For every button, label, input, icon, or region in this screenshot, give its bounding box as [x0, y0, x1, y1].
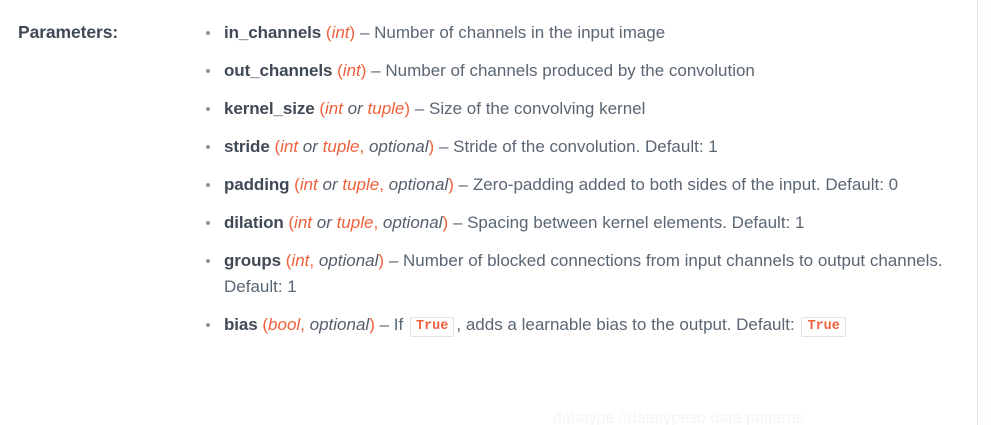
close-paren: ) [361, 61, 367, 80]
param-description: Number of channels produced by the convo… [385, 61, 755, 80]
separator-dash: – [415, 99, 424, 118]
param-type-alt: tuple [337, 213, 374, 232]
param-type: int [343, 61, 361, 80]
param-name: padding [224, 175, 289, 194]
param-type: int [300, 175, 318, 194]
param-type-group: (int or tuple, optional) [289, 175, 454, 194]
param-type-group: (int or tuple) [315, 99, 410, 118]
separator-dash: – [380, 315, 389, 334]
param-optional-flag: optional [383, 213, 443, 232]
separator-dash: – [371, 61, 380, 80]
param-type-alt: tuple [323, 137, 360, 156]
param-description: Number of channels in the input image [374, 23, 665, 42]
type-comma: , [300, 315, 309, 334]
list-item: out_channels (int) – Number of channels … [198, 58, 977, 84]
type-conjunction: or [298, 137, 323, 156]
close-paren: ) [369, 315, 375, 334]
param-type: bool [268, 315, 300, 334]
separator-dash: – [459, 175, 468, 194]
param-name: groups [224, 251, 281, 270]
param-description: Spacing between kernel elements. Default… [467, 213, 804, 232]
list-item: dilation (int or tuple, optional) – Spac… [198, 210, 977, 236]
scrollbar-track[interactable] [985, 0, 991, 425]
list-item: stride (int or tuple, optional) – Stride… [198, 134, 977, 160]
param-name: in_channels [224, 23, 321, 42]
parameters-label: Parameters: [0, 20, 198, 352]
param-type-group: (int) [321, 23, 355, 42]
param-name: bias [224, 315, 258, 334]
param-type-alt: tuple [342, 175, 379, 194]
param-type: int [332, 23, 350, 42]
list-item: bias (bool, optional) – If True, adds a … [198, 312, 977, 340]
close-paren: ) [429, 137, 435, 156]
close-paren: ) [442, 213, 448, 232]
close-paren: ) [404, 99, 410, 118]
close-paren: ) [350, 23, 356, 42]
param-optional-flag: optional [319, 251, 379, 270]
param-optional-flag: optional [389, 175, 449, 194]
param-optional-flag: optional [310, 315, 370, 334]
param-type: int [325, 99, 343, 118]
parameter-list: in_channels (int) – Number of channels i… [198, 20, 977, 339]
param-type-group: (int or tuple, optional) [270, 137, 435, 156]
param-name: kernel_size [224, 99, 315, 118]
list-item: groups (int, optional) – Number of block… [198, 248, 977, 299]
param-description: Stride of the convolution. Default: 1 [453, 137, 718, 156]
type-conjunction: or [343, 99, 368, 118]
literal-true-1: True [410, 317, 454, 337]
close-paren: ) [448, 175, 454, 194]
separator-dash: – [389, 251, 398, 270]
list-item: padding (int or tuple, optional) – Zero-… [198, 172, 977, 198]
separator-dash: – [453, 213, 462, 232]
param-description: Zero-padding added to both sides of the … [473, 175, 898, 194]
parameters-body: in_channels (int) – Number of channels i… [198, 20, 977, 352]
type-conjunction: or [312, 213, 337, 232]
param-optional-flag: optional [369, 137, 429, 156]
list-item: in_channels (int) – Number of channels i… [198, 20, 977, 46]
param-name: stride [224, 137, 270, 156]
documentation-page: Parameters: in_channels (int) – Number o… [0, 0, 991, 425]
param-type-group: (int or tuple, optional) [284, 213, 449, 232]
param-type: int [294, 213, 312, 232]
param-type-group: (int) [332, 61, 366, 80]
param-description: Size of the convolving kernel [429, 99, 645, 118]
page-edge-rule [977, 0, 978, 425]
param-type-group: (bool, optional) [258, 315, 375, 334]
close-paren: ) [378, 251, 384, 270]
param-name: dilation [224, 213, 284, 232]
type-conjunction: or [318, 175, 343, 194]
clipped-next-paragraph: datatype //datatypeso data patterns [553, 409, 973, 425]
param-type: int [280, 137, 298, 156]
param-type-group: (int, optional) [281, 251, 384, 270]
param-description-before: If [394, 315, 403, 334]
type-comma: , [360, 137, 369, 156]
type-comma: , [379, 175, 388, 194]
param-name: out_channels [224, 61, 332, 80]
type-comma: , [309, 251, 318, 270]
separator-dash: – [360, 23, 369, 42]
separator-dash: – [439, 137, 448, 156]
parameters-field-table: Parameters: in_channels (int) – Number o… [0, 20, 977, 352]
param-type-alt: tuple [368, 99, 405, 118]
literal-true-2: True [801, 317, 845, 337]
param-type: int [291, 251, 309, 270]
list-item: kernel_size (int or tuple) – Size of the… [198, 96, 977, 122]
param-description-after: , adds a learnable bias to the output. D… [456, 315, 794, 334]
type-comma: , [373, 213, 382, 232]
